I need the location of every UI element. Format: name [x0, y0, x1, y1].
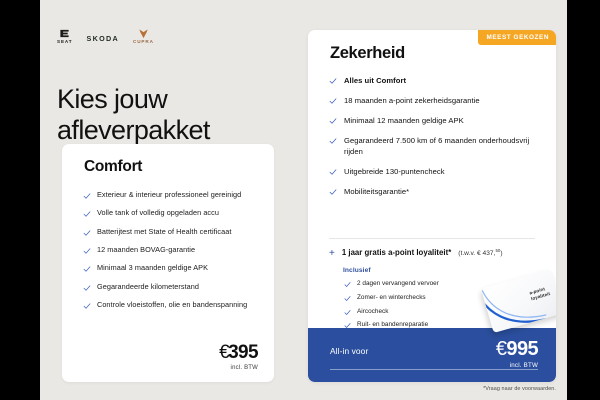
brand-seat: SEAT — [57, 28, 73, 45]
comfort-price: €395 — [219, 343, 258, 362]
list-item: Gegarandeerde kilometerstand — [83, 282, 259, 292]
zekerheid-price-value: 995 — [506, 338, 538, 360]
check-icon — [329, 137, 337, 145]
list-item: Alles uit Comfort — [329, 75, 534, 86]
brand-skoda: SKODA — [87, 34, 119, 45]
list-item-label: 12 maanden BOVAG-garantie — [97, 245, 195, 254]
brand-logo-row: SEAT SKODA CUPRA — [57, 28, 154, 45]
check-icon — [83, 192, 91, 200]
check-icon — [83, 247, 91, 255]
comfort-feature-list: Exterieur & interieur professioneel gere… — [83, 190, 259, 319]
list-item: Mobiliteitsgarantie* — [329, 186, 534, 197]
page-title: Kies jouw afleverpakket — [57, 84, 272, 146]
comfort-price-value: 395 — [228, 342, 258, 363]
terms-note: *Vraag naar de voorwaarden. — [483, 386, 556, 392]
comfort-title: Comfort — [84, 158, 142, 176]
list-item-label: Minimaal 12 maanden geldige APK — [344, 116, 464, 125]
list-item: 2 dagen vervangend vervoer — [344, 280, 494, 288]
list-item: Zomer- en winterchecks — [344, 294, 494, 302]
list-item: Batterijtest met State of Health certifi… — [83, 227, 259, 237]
skoda-logo-icon: SKODA — [87, 34, 119, 45]
check-icon — [329, 168, 337, 176]
list-item: Ruit- en bandenreparatie — [344, 321, 494, 329]
loyalty-value-prefix: (t.w.v. € 437, — [458, 250, 495, 257]
check-icon — [83, 229, 91, 237]
check-icon — [329, 117, 337, 125]
list-item-label: Ruit- en bandenreparatie — [357, 321, 428, 328]
allin-price-bar: All-in voor €995 incl. BTW — [308, 328, 556, 382]
allin-label: All-in voor — [330, 346, 368, 356]
check-icon — [83, 302, 91, 310]
brand-cupra: CUPRA — [133, 28, 154, 45]
comfort-price-block: €395 incl. BTW — [219, 343, 258, 371]
list-item: 12 maanden BOVAG-garantie — [83, 245, 259, 255]
screenshot-stage: SEAT SKODA CUPRA Kies — [0, 0, 600, 400]
zekerheid-feature-list: Alles uit Comfort 18 maanden a-point zek… — [329, 75, 534, 206]
zekerheid-title: Zekerheid — [330, 44, 405, 63]
list-item-label: Gegarandeerde kilometerstand — [97, 282, 199, 291]
loyalty-addon-row: + 1 jaar gratis a-point loyaliteit* (t.w… — [329, 248, 541, 258]
seat-logo-icon — [59, 28, 70, 39]
comfort-price-note: incl. BTW — [219, 365, 258, 371]
list-item: Controle vloeistoffen, olie en bandenspa… — [83, 300, 259, 310]
cupra-wordmark: CUPRA — [133, 40, 154, 45]
currency-symbol: € — [496, 338, 507, 360]
zekerheid-price-block: €995 incl. BTW — [496, 339, 538, 369]
check-icon — [329, 97, 337, 105]
check-icon — [344, 295, 351, 302]
list-item-label: Zomer- en winterchecks — [357, 294, 426, 301]
list-item: Exterieur & interieur professioneel gere… — [83, 190, 259, 200]
loyalty-value: (t.w.v. € 437,50) — [458, 248, 502, 257]
zekerheid-price: €995 — [496, 339, 538, 359]
left-column: SEAT SKODA CUPRA Kies — [40, 0, 288, 400]
plus-icon: + — [329, 249, 335, 259]
loyalty-value-suffix: ) — [500, 250, 502, 257]
list-item: Volle tank of volledig opgeladen accu — [83, 208, 259, 218]
list-item: Minimaal 3 maanden geldige APK — [83, 263, 259, 273]
list-item-label: Controle vloeistoffen, olie en bandenspa… — [97, 300, 247, 309]
allin-underline — [330, 369, 538, 370]
list-item-label: Mobiliteitsgarantie* — [344, 187, 409, 196]
list-item-label: Gegarandeerd 7.500 km of 6 maanden onder… — [344, 136, 529, 156]
zekerheid-package-card[interactable]: MEEST GEKOZEN Zekerheid Alles uit Comfor… — [308, 30, 556, 382]
check-icon — [83, 265, 91, 273]
cupra-logo-icon — [138, 28, 149, 39]
check-icon — [329, 188, 337, 196]
check-icon — [344, 281, 351, 288]
list-item-label: Exterieur & interieur professioneel gere… — [97, 190, 241, 199]
check-icon — [83, 284, 91, 292]
check-icon — [329, 77, 337, 85]
check-icon — [344, 309, 351, 316]
list-item-label: Uitgebreide 130-puntencheck — [344, 167, 445, 176]
list-item-label: 18 maanden a-point zekerheidsgarantie — [344, 96, 480, 105]
list-item-label: Batterijtest met State of Health certifi… — [97, 227, 231, 236]
list-item-label: 2 dagen vervangend vervoer — [357, 280, 439, 287]
inclusief-list: 2 dagen vervangend vervoer Zomer- en win… — [344, 280, 494, 335]
list-item: Aircocheck — [344, 308, 494, 316]
list-item: 18 maanden a-point zekerheidsgarantie — [329, 95, 534, 106]
list-item: Minimaal 12 maanden geldige APK — [329, 115, 534, 126]
list-item-label: Volle tank of volledig opgeladen accu — [97, 208, 219, 217]
loyalty-title: 1 jaar gratis a-point loyaliteit* — [342, 248, 451, 257]
list-item-label: Minimaal 3 maanden geldige APK — [97, 263, 208, 272]
page-title-line-1: Kies jouw — [57, 84, 167, 114]
list-item: Uitgebreide 130-puntencheck — [329, 166, 534, 177]
check-icon — [344, 322, 351, 329]
section-divider — [329, 238, 535, 239]
list-item-label: Aircocheck — [357, 308, 388, 315]
check-icon — [83, 210, 91, 218]
status-badge: MEEST GEKOZEN — [478, 30, 556, 45]
inclusief-label: Inclusief — [343, 267, 371, 274]
comfort-package-card[interactable]: Comfort Exterieur & interieur profession… — [62, 144, 274, 382]
zekerheid-price-note: incl. BTW — [496, 362, 538, 369]
list-item-label: Alles uit Comfort — [344, 76, 406, 85]
page-title-line-2: afleverpakket — [57, 115, 210, 145]
seat-wordmark: SEAT — [57, 40, 73, 45]
list-item: Gegarandeerd 7.500 km of 6 maanden onder… — [329, 135, 534, 157]
promo-canvas: SEAT SKODA CUPRA Kies — [40, 0, 567, 400]
